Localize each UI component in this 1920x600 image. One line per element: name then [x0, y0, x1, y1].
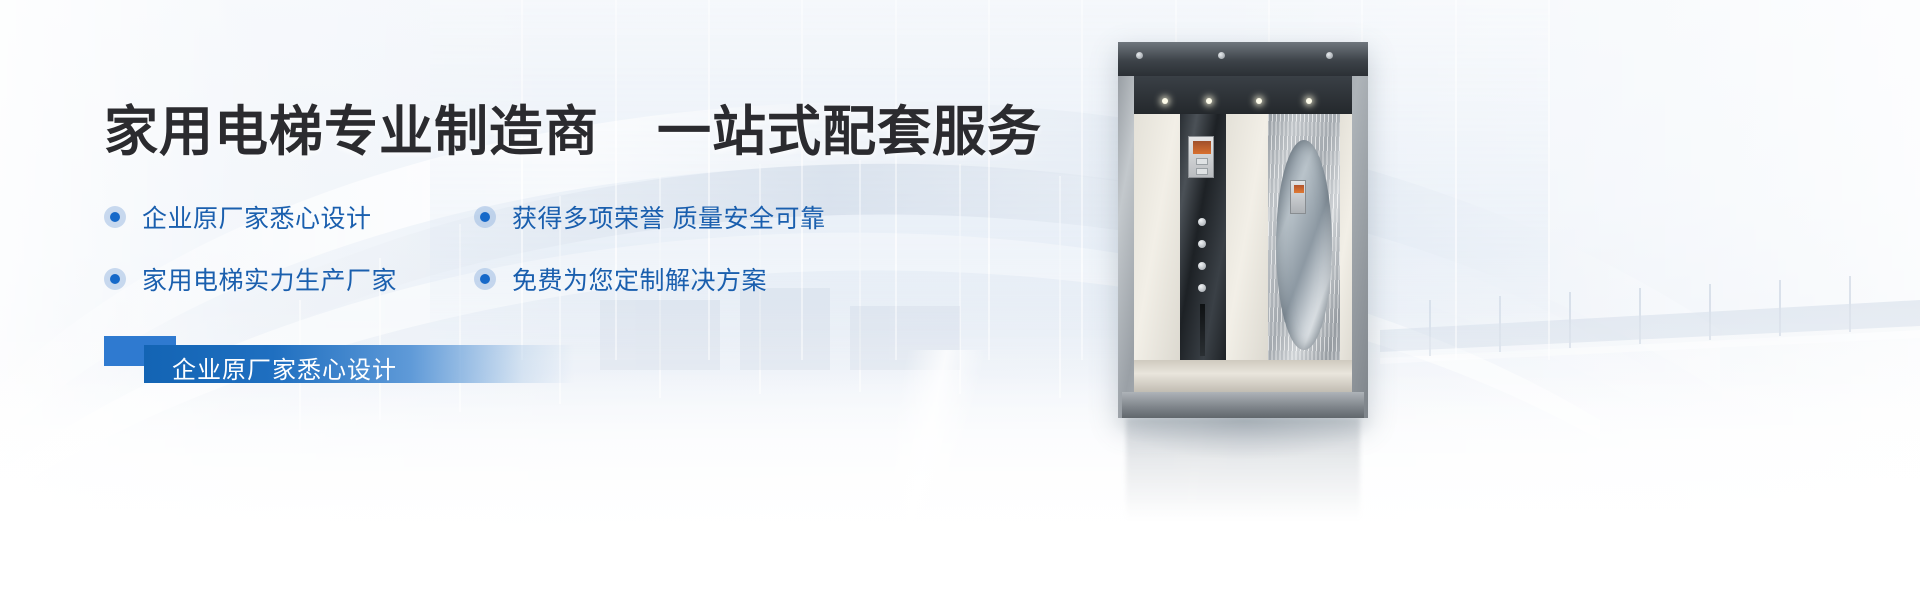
- floor-display-screen: [1193, 141, 1211, 154]
- ceiling-light-icon: [1306, 98, 1312, 104]
- elevator-button-column: [1198, 218, 1206, 306]
- call-button: [1196, 168, 1208, 175]
- secondary-control-panel: [1290, 180, 1306, 214]
- bullet-dot-icon: [474, 206, 496, 228]
- ceiling-light-icon: [1256, 98, 1262, 104]
- bullet-label: 获得多项荣誉 质量安全可靠: [512, 199, 825, 235]
- ceiling-light-icon: [1206, 98, 1212, 104]
- round-button-icon: [1198, 218, 1206, 226]
- elevator-base-plinth: [1122, 392, 1364, 418]
- floor-reflection-streaks: [0, 350, 1920, 600]
- elevator-cab-image: [1118, 42, 1368, 418]
- call-button: [1196, 158, 1208, 165]
- bullet-dot-icon: [104, 206, 126, 228]
- headline-part-1: 家用电梯专业制造商: [104, 102, 599, 162]
- rear-wall-oval-mirror: [1276, 140, 1332, 350]
- ribbon-tag: 企业原厂家悉心设计: [104, 336, 574, 374]
- bullet-dot-icon: [474, 268, 496, 290]
- elevator-control-panel: [1188, 136, 1214, 178]
- bullet-label: 免费为您定制解决方案: [512, 261, 767, 297]
- round-button-icon: [1198, 284, 1206, 292]
- round-button-icon: [1198, 262, 1206, 270]
- bullet-label: 企业原厂家悉心设计: [142, 199, 372, 235]
- feature-bullet-list: 企业原厂家悉心设计 获得多项荣誉 质量安全可靠 家用电梯实力生产厂家 免费为您定…: [104, 199, 1104, 297]
- screw-icon: [1136, 52, 1143, 59]
- elevator-cab-floor: [1134, 360, 1352, 394]
- list-item: 获得多项荣誉 质量安全可靠: [474, 199, 1104, 235]
- elevator-side-wall-mid: [1226, 114, 1268, 394]
- bullet-dot-icon: [104, 268, 126, 290]
- ribbon-label: 企业原厂家悉心设计: [172, 350, 397, 385]
- ribbon-bar: 企业原厂家悉心设计: [144, 345, 574, 383]
- elevator-side-wall-left: [1134, 114, 1180, 394]
- elevator-interior: [1134, 76, 1352, 394]
- elevator-top-canopy: [1118, 42, 1368, 76]
- elevator-side-wall-right: [1340, 114, 1352, 394]
- page-title: 家用电梯专业制造商 一站式配套服务: [104, 104, 1104, 161]
- elevator-ceiling: [1134, 76, 1352, 114]
- ceiling-light-icon: [1162, 98, 1168, 104]
- bullet-label: 家用电梯实力生产厂家: [142, 261, 397, 297]
- banner-copy: 家用电梯专业制造商 一站式配套服务 企业原厂家悉心设计 获得多项荣誉 质量安全可…: [104, 104, 1104, 297]
- screw-icon: [1326, 52, 1333, 59]
- list-item: 家用电梯实力生产厂家: [104, 261, 474, 297]
- list-item: 企业原厂家悉心设计: [104, 199, 474, 235]
- round-button-icon: [1198, 240, 1206, 248]
- headline-part-2: 一站式配套服务: [657, 102, 1042, 162]
- elevator-rear-mirror-wall: [1268, 114, 1340, 394]
- screw-icon: [1218, 52, 1225, 59]
- door-light-curtain-strip: [1200, 304, 1205, 356]
- secondary-display-screen: [1294, 185, 1304, 193]
- elevator-door-panel: [1180, 114, 1226, 394]
- promo-banner: 家用电梯专业制造商 一站式配套服务 企业原厂家悉心设计 获得多项荣誉 质量安全可…: [0, 0, 1920, 600]
- elevator-floor-reflection: [1126, 418, 1360, 538]
- list-item: 免费为您定制解决方案: [474, 261, 1104, 297]
